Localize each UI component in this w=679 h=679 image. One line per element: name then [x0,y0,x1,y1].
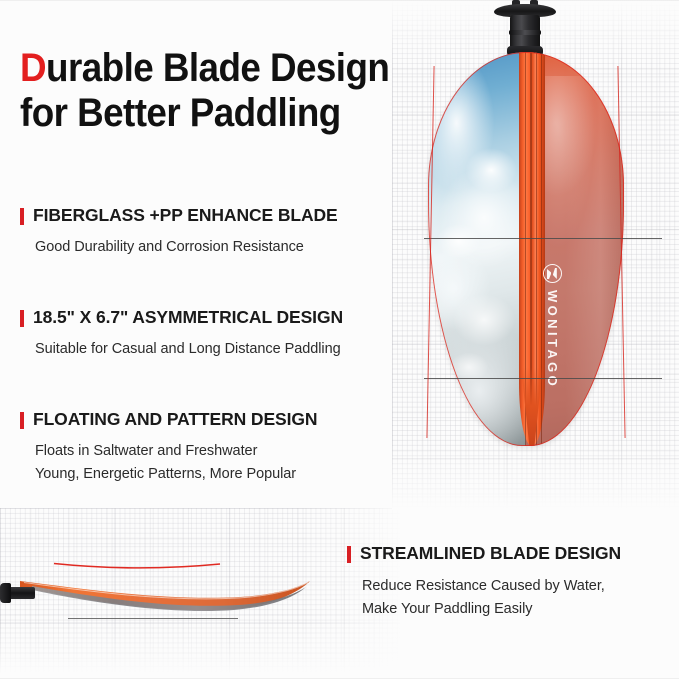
profile-handle-shaft [9,587,35,599]
profile-handle-cap [0,583,11,603]
profile-blade-shape [14,567,314,619]
measurement-guide-line-top [424,238,662,239]
feature-description-line: Floats in Saltwater and Freshwater [20,440,392,462]
feature-item-asymmetrical: 18.5" X 6.7" ASYMMETRICAL DESIGN Suitabl… [20,307,392,360]
feature-heading: FIBERGLASS +PP ENHANCE BLADE [20,205,392,226]
headline-line-1-rest: urable Blade Design [46,46,389,90]
red-bullet-bar-icon [20,208,24,225]
brand-name-text: WONITAGO [545,290,560,389]
feature-title-text: FLOATING AND PATTERN DESIGN [33,409,317,429]
paddle-blade-front-photo: WONITAGO [428,0,624,450]
profile-straight-reference-line [68,618,238,619]
feature-title-text: FIBERGLASS +PP ENHANCE BLADE [33,205,338,225]
ferrule-ring [509,30,541,35]
grid-fade-bottom [392,440,679,510]
feature-description-line: Good Durability and Corrosion Resistance [20,236,392,258]
feature-title-text: STREAMLINED BLADE DESIGN [360,543,621,563]
feature-title-text: 18.5" X 6.7" ASYMMETRICAL DESIGN [33,307,343,327]
measurement-guide-line-bottom [424,378,662,379]
red-bullet-bar-icon [347,546,351,563]
feature-item-floating-pattern: FLOATING AND PATTERN DESIGN Floats in Sa… [20,409,392,485]
feature-item-fiberglass: FIBERGLASS +PP ENHANCE BLADE Good Durabi… [20,205,392,258]
brand-lockup: WONITAGO [543,264,562,389]
headline-line-2: for Better Paddling [20,91,370,136]
infographic-page: Durable Blade Design for Better Paddling… [0,0,679,679]
paddle-blade-profile-photo [0,545,320,645]
feature-description-line-2: Make Your Paddling Easily [347,598,679,620]
feature-description-line-2: Young, Energetic Patterns, More Popular [20,463,392,485]
feature-heading: FLOATING AND PATTERN DESIGN [20,409,392,430]
feature-description-line: Suitable for Casual and Long Distance Pa… [20,338,392,360]
feature-description-line: Reduce Resistance Caused by Water, [347,575,679,597]
red-bullet-bar-icon [20,310,24,327]
red-bullet-bar-icon [20,412,24,429]
headline-line-1: Durable Blade Design [20,46,370,91]
blade-body: WONITAGO [428,52,624,446]
page-title: Durable Blade Design for Better Paddling [20,46,400,136]
blade-gloss-sheen [428,52,624,446]
feature-heading: STREAMLINED BLADE DESIGN [347,543,679,564]
feature-heading: 18.5" X 6.7" ASYMMETRICAL DESIGN [20,307,392,328]
feature-item-streamlined: STREAMLINED BLADE DESIGN Reduce Resistan… [347,543,679,620]
wonitago-circle-logo-icon [543,264,562,283]
profile-paddle-handle [0,583,32,603]
headline-drop-cap: D [20,46,46,90]
